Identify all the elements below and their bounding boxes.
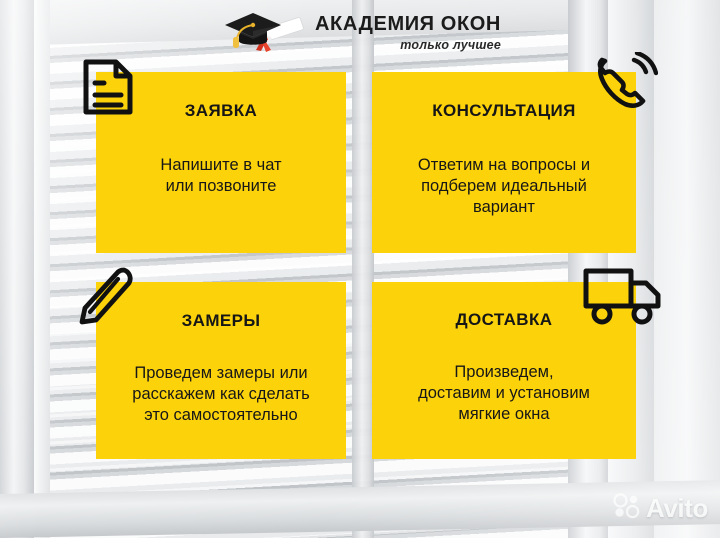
card-title: ЗАЯВКА xyxy=(185,101,257,121)
card-body-line: мягкие окна xyxy=(418,404,590,425)
brand-tagline: только лучшее xyxy=(400,39,501,52)
card-body: Ответим на вопросы и подберем идеальный … xyxy=(418,155,590,218)
card-body-line: расскажем как сделать xyxy=(132,384,309,405)
card-body-line: это самостоятельно xyxy=(132,405,309,426)
card-body-line: подберем идеальный xyxy=(418,176,590,197)
card-body-line: доставим и установим xyxy=(418,383,590,404)
card-title: ЗАМЕРЫ xyxy=(182,311,261,331)
phone-ringing-icon xyxy=(592,52,658,118)
truck-icon xyxy=(582,266,666,328)
card-body-line: Ответим на вопросы и xyxy=(418,155,590,176)
card-body-line: вариант xyxy=(418,197,590,218)
card-body: Проведем замеры или расскажем как сделат… xyxy=(132,363,309,426)
avito-watermark: Avito xyxy=(613,493,708,524)
brand-lockup: АКАДЕМИЯ ОКОН только лучшее xyxy=(315,14,501,52)
avito-wordmark: Avito xyxy=(646,493,708,524)
card-body: Напишите в чат или позвоните xyxy=(160,155,281,197)
graduation-cap-diploma-icon xyxy=(219,7,305,59)
card-title: ДОСТАВКА xyxy=(456,310,553,330)
card-body-line: Напишите в чат xyxy=(160,155,281,176)
card-body-line: Произведем, xyxy=(418,362,590,383)
avito-logo-icon xyxy=(613,493,641,524)
pencil-icon xyxy=(78,264,136,326)
card-title: КОНСУЛЬТАЦИЯ xyxy=(432,101,576,121)
brand-name: АКАДЕМИЯ ОКОН xyxy=(315,14,501,34)
card-body-line: Проведем замеры или xyxy=(132,363,309,384)
card-body: Произведем, доставим и установим мягкие … xyxy=(418,362,590,425)
card-body-line: или позвоните xyxy=(160,176,281,197)
document-icon xyxy=(80,56,136,118)
